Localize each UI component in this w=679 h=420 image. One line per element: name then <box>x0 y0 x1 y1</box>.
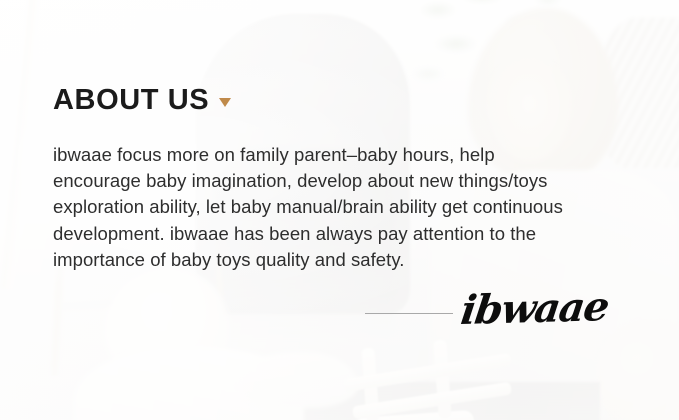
page-title: ABOUT US <box>53 86 209 115</box>
signature-divider <box>365 313 453 314</box>
brand-signature: ibwaae <box>458 287 610 335</box>
description-line: development. ibwaae has been always pay … <box>53 221 653 247</box>
signature-row: ibwaae <box>365 286 627 340</box>
about-us-banner: ABOUT US ibwaae focus more on family par… <box>0 0 679 420</box>
about-us-content: ABOUT US ibwaae focus more on family par… <box>0 0 679 420</box>
description-line: exploration ability, let baby manual/bra… <box>53 194 653 220</box>
triangle-down-icon <box>219 98 231 107</box>
about-us-description: ibwaae focus more on family parent–baby … <box>53 142 653 273</box>
section-heading-row: ABOUT US <box>53 86 231 115</box>
description-line: encourage baby imagination, develop abou… <box>53 168 653 194</box>
description-line: importance of baby toys quality and safe… <box>53 247 653 273</box>
description-line: ibwaae focus more on family parent–baby … <box>53 142 653 168</box>
